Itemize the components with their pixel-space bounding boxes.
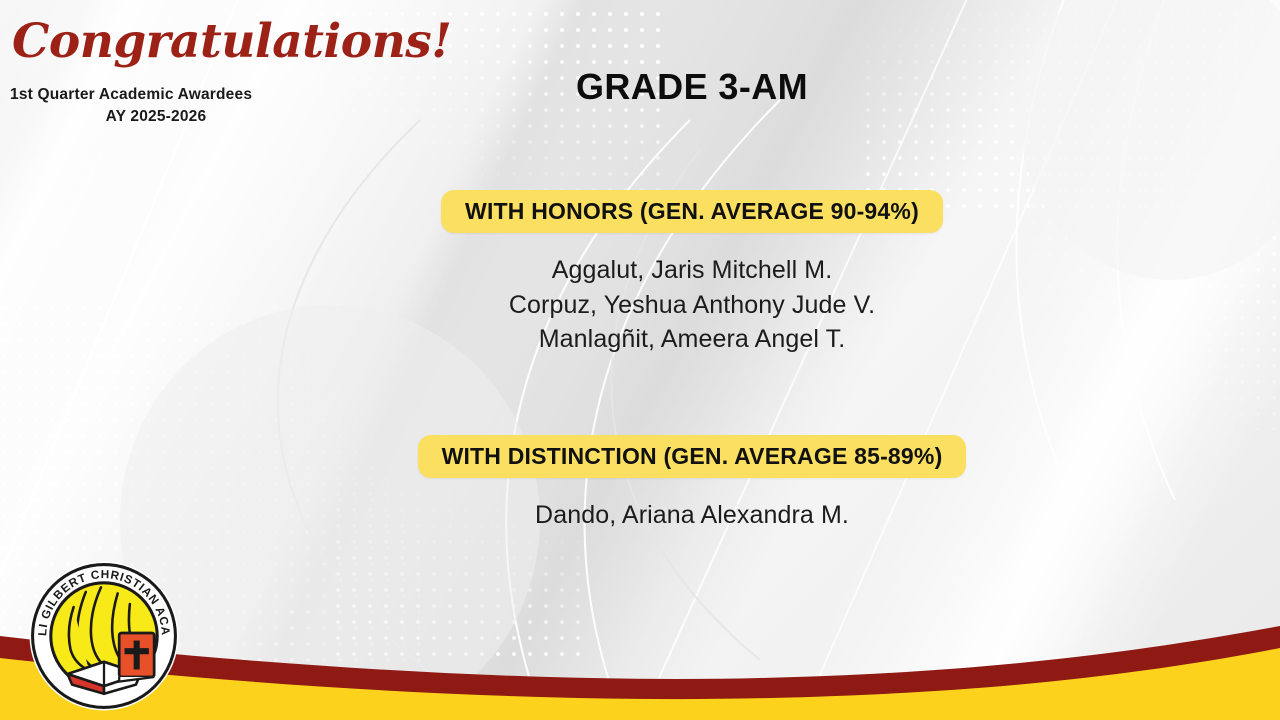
grade-title: GRADE 3-AM <box>104 66 1280 108</box>
award-section-distinction: WITH DISTINCTION (GEN. AVERAGE 85-89%) D… <box>104 435 1280 533</box>
awardee-list-honors: Aggalut, Jaris Mitchell M. Corpuz, Yeshu… <box>104 253 1280 357</box>
subtitle-academic-year: AY 2025-2026 <box>10 106 302 128</box>
awardee-list-distinction: Dando, Ariana Alexandra M. <box>104 498 1280 533</box>
awards-slide: Congratulations! 1st Quarter Academic Aw… <box>0 0 1280 720</box>
award-banner-distinction: WITH DISTINCTION (GEN. AVERAGE 85-89%) <box>418 435 967 478</box>
section-spacer <box>104 363 1280 435</box>
award-banner-honors: WITH HONORS (GEN. AVERAGE 90-94%) <box>441 190 943 233</box>
footer-wave-decoration <box>0 600 1280 720</box>
awardee-name: Aggalut, Jaris Mitchell M. <box>104 253 1280 288</box>
congratulations-heading: Congratulations! <box>12 14 451 69</box>
awardee-name: Dando, Ariana Alexandra M. <box>104 498 1280 533</box>
bible-cross-icon <box>119 633 154 682</box>
awards-container: WITH HONORS (GEN. AVERAGE 90-94%) Aggalu… <box>104 190 1280 538</box>
award-section-honors: WITH HONORS (GEN. AVERAGE 90-94%) Aggalu… <box>104 190 1280 357</box>
awardee-name: Manlagñit, Ameera Angel T. <box>104 322 1280 357</box>
school-logo: ANGELI GILBERT CHRISTIAN ACADEMY 2002 <box>28 560 180 712</box>
awardee-name: Corpuz, Yeshua Anthony Jude V. <box>104 288 1280 323</box>
